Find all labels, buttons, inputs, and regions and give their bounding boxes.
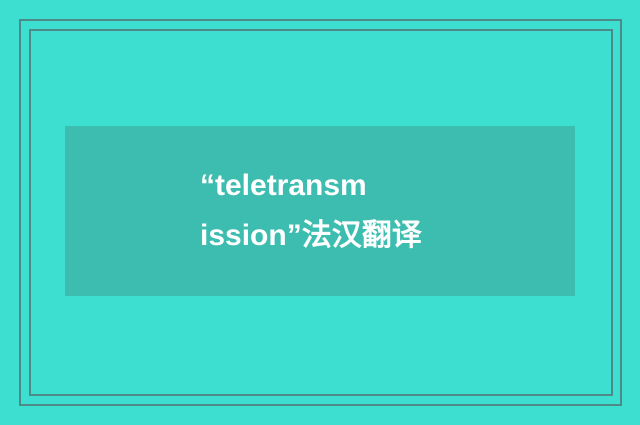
title-card-canvas: “teletransm ission”法汉翻译: [0, 0, 640, 425]
page-title-line-2: ission”法汉翻译: [200, 211, 440, 261]
page-title: “teletransm ission”法汉翻译: [200, 161, 440, 261]
banner-panel: “teletransm ission”法汉翻译: [65, 126, 575, 296]
page-title-line-1: “teletransm: [200, 161, 440, 211]
